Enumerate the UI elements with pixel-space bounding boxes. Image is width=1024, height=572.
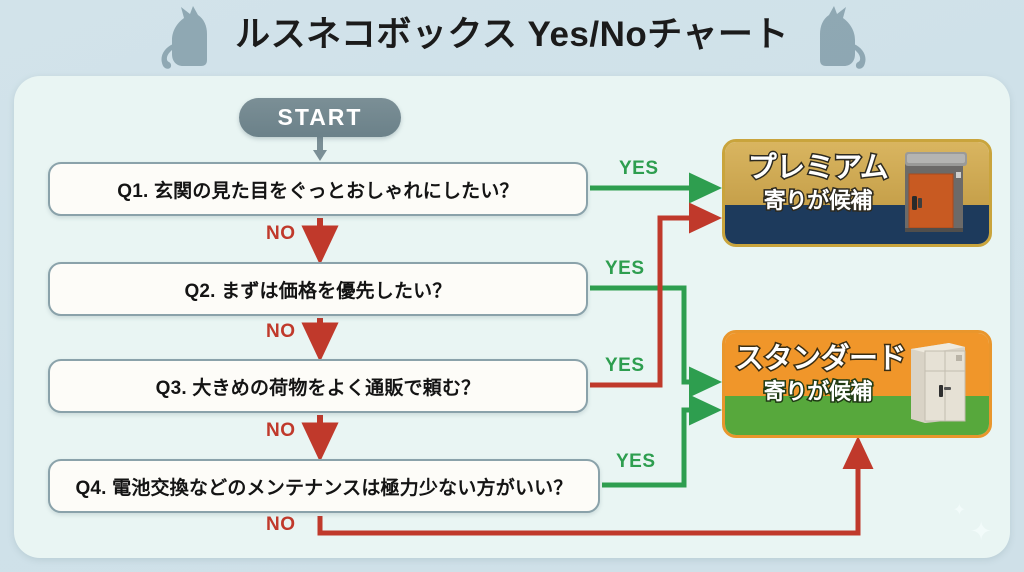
question-box-q3[interactable]: Q3. 大きめの荷物をよく通販で頼む？ [48,359,588,413]
orange-delivery-box-photo [899,144,973,236]
beige-delivery-box-photo [903,333,973,427]
sparkle-icon: ✦ [970,518,992,544]
header: ルスネコボックス Yes/Noチャート [0,0,1024,76]
card-title-premium: プレミアム [735,150,901,186]
card-text-premium: プレミアム 寄りが候補 [735,150,901,216]
question-text-q2: Q2. まずは価格を優先したい？ [184,276,451,303]
card-subtitle-standard: 寄りが候補 [735,377,901,407]
edge-label-q2-yes: YES [605,258,645,280]
edge-label-q3-no: NO [266,420,296,442]
card-text-standard: スタンダード 寄りが候補 [735,341,901,407]
card-title-standard: スタンダード [735,341,901,377]
cat-silhouette-icon [805,4,877,72]
question-box-q2[interactable]: Q2. まずは価格を優先したい？ [48,262,588,316]
question-text-q3: Q3. 大きめの荷物をよく通販で頼む？ [156,373,481,400]
result-card-premium[interactable]: プレミアム 寄りが候補 [722,139,992,247]
edge-label-q3-yes: YES [605,355,645,377]
edge-label-q2-no: NO [266,321,296,343]
start-node[interactable]: START [239,98,401,137]
result-card-standard[interactable]: スタンダード 寄りが候補 [722,330,992,438]
edge-label-q4-no: NO [266,514,296,536]
edge-label-q1-no: NO [266,223,296,245]
question-text-q1: Q1. 玄関の見た目をぐっとおしゃれにしたい？ [117,176,519,203]
card-subtitle-premium: 寄りが候補 [735,186,901,216]
edge-label-q1-yes: YES [619,158,659,180]
question-box-q1[interactable]: Q1. 玄関の見た目をぐっとおしゃれにしたい？ [48,162,588,216]
edge-label-q4-yes: YES [616,451,656,473]
question-box-q4[interactable]: Q4. 電池交換などのメンテナンスは極力少ない方がいい？ [48,459,600,513]
flowchart-canvas: ルスネコボックス Yes/Noチャート ✦ ✦ [0,0,1024,572]
question-text-q4: Q4. 電池交換などのメンテナンスは極力少ない方がいい？ [75,473,572,500]
sparkle-icon: ✦ [953,498,966,524]
